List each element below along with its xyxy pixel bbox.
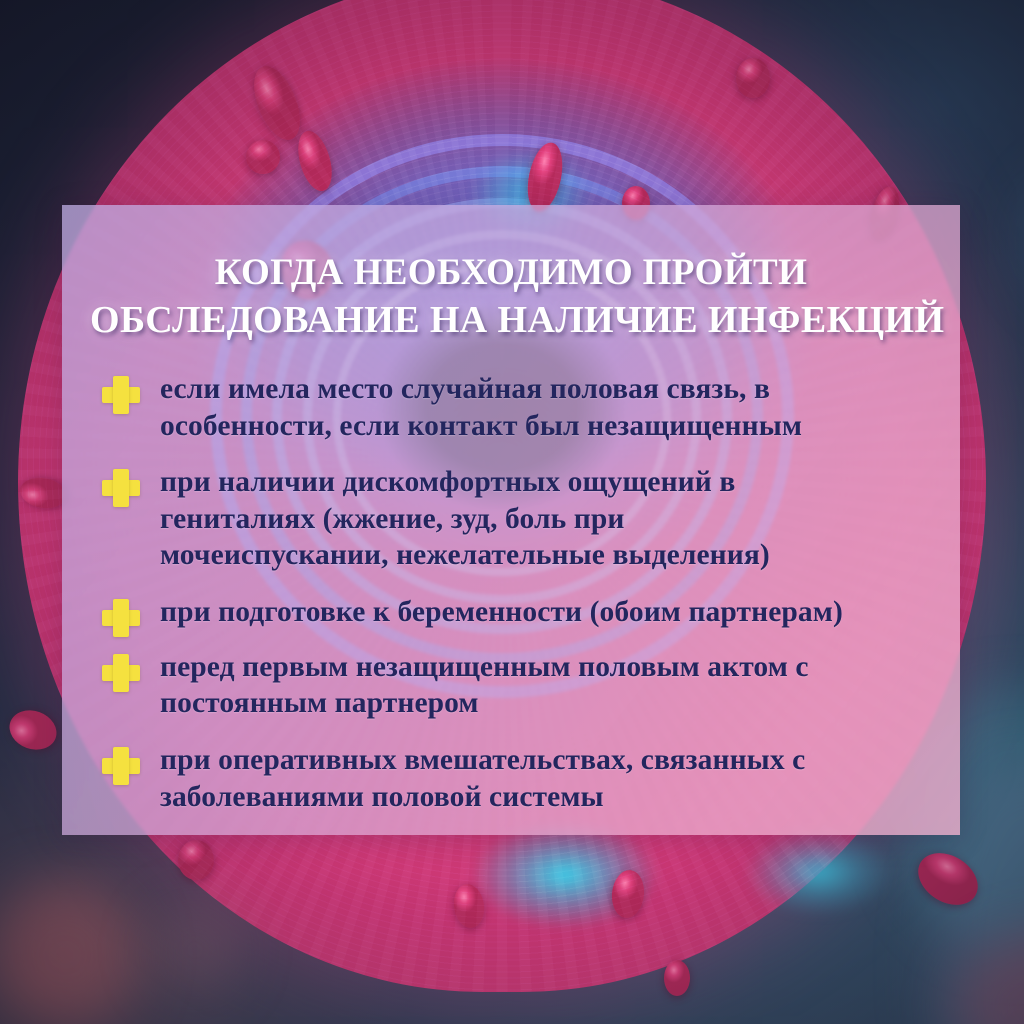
plus-cross-icon (102, 747, 140, 785)
list-item-line: при оперативных вмешательствах, связанны… (160, 742, 805, 779)
list-item-line: постоянным партнером (160, 685, 809, 722)
list-item-text: при оперативных вмешательствах, связанны… (160, 742, 805, 815)
page-title-line-2: ОБСЛЕДОВАНИЕ НА НАЛИЧИЕ ИНФЕКЦИЙ (90, 296, 932, 345)
list-item-text: при наличии дискомфортных ощущений в ген… (160, 464, 770, 574)
list-item: при наличии дискомфортных ощущений в ген… (94, 464, 928, 574)
list-item-line: при наличии дискомфортных ощущений в (160, 464, 770, 501)
list-item-line: если имела место случайная половая связь… (160, 371, 802, 408)
plus-cross-icon (102, 376, 140, 414)
list-item-line: при подготовке к беременности (обоим пар… (160, 594, 843, 631)
list-item-text: перед первым незащищенным половым актом … (160, 649, 809, 722)
plus-cross-icon (102, 654, 140, 692)
poster-canvas: КОГДА НЕОБХОДИМО ПРОЙТИ ОБСЛЕДОВАНИЕ НА … (0, 0, 1024, 1024)
list-item-text: при подготовке к беременности (обоим пар… (160, 594, 843, 631)
list-item: при подготовке к беременности (обоим пар… (94, 594, 928, 637)
plus-cross-icon (102, 469, 140, 507)
list-item: перед первым незащищенным половым актом … (94, 649, 928, 722)
list-item-line: особенности, если контакт был незащищенн… (160, 408, 802, 445)
list-item-line: мочеиспускании, нежелательные выделения) (160, 537, 770, 574)
list-item-text: если имела место случайная половая связь… (160, 371, 802, 444)
list-item-line: гениталиях (жжение, зуд, боль при (160, 501, 770, 538)
plus-cross-icon (102, 599, 140, 637)
list-item: если имела место случайная половая связь… (94, 371, 928, 444)
indications-list: если имела место случайная половая связь… (88, 345, 934, 815)
content-panel: КОГДА НЕОБХОДИМО ПРОЙТИ ОБСЛЕДОВАНИЕ НА … (62, 205, 960, 835)
page-title-line-1: КОГДА НЕОБХОДИМО ПРОЙТИ (90, 249, 932, 296)
list-item-line: перед первым незащищенным половым актом … (160, 649, 809, 686)
list-item-line: заболеваниями половой системы (160, 779, 805, 816)
page-title: КОГДА НЕОБХОДИМО ПРОЙТИ ОБСЛЕДОВАНИЕ НА … (88, 231, 934, 345)
list-item: при оперативных вмешательствах, связанны… (94, 742, 928, 815)
